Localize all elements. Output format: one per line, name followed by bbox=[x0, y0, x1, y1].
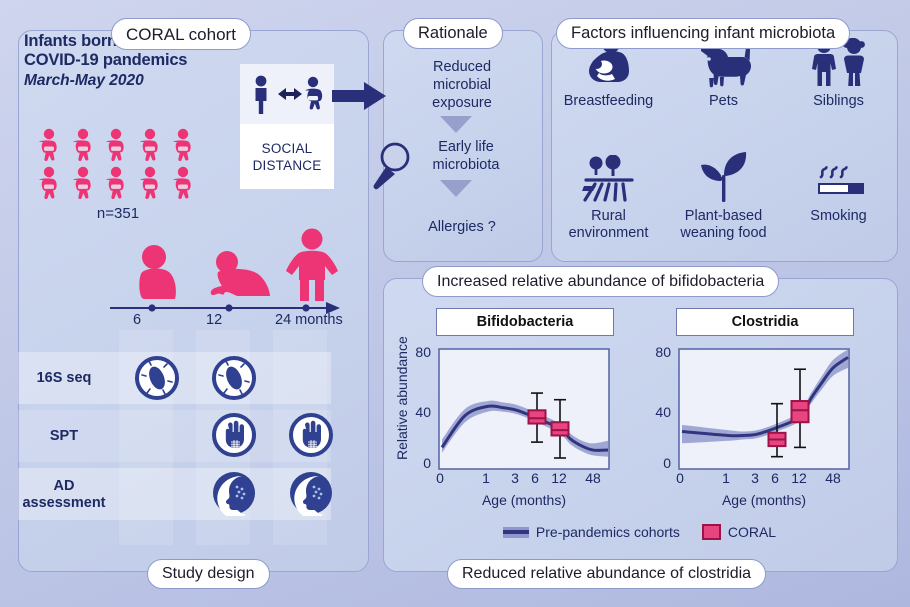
coral-cohort-title-pill: CORAL cohort bbox=[111, 18, 251, 50]
coral-heading-line2: COVID-19 pandemics bbox=[24, 51, 234, 70]
chart1-ytick-0: 0 bbox=[645, 455, 671, 471]
right-arrow-icon bbox=[332, 80, 388, 117]
factor-label: Breastfeeding bbox=[564, 93, 653, 110]
legend-item-pre-pandemics: Pre-pandemics cohorts bbox=[503, 524, 680, 540]
down-arrow-icon bbox=[440, 180, 472, 202]
charts-top-pill: Increased relative abundance of bifidoba… bbox=[422, 266, 779, 297]
chart1-xtick-1: 1 bbox=[718, 470, 734, 486]
infant-icon bbox=[68, 166, 98, 202]
factor-label: Plant-based weaning food bbox=[680, 208, 766, 242]
chart0-xtick-6: 6 bbox=[527, 470, 543, 486]
chart0-ytick-80: 80 bbox=[405, 344, 431, 360]
rationale-step-1: Reduced microbial exposure bbox=[388, 58, 536, 112]
skin-prick-test-icon bbox=[288, 412, 334, 458]
crawling-infant-icon bbox=[210, 250, 272, 302]
legend-label: Pre-pandemics cohorts bbox=[536, 524, 680, 540]
row-label-spt: SPT bbox=[16, 428, 112, 445]
chart0-ytick-0: 0 bbox=[405, 455, 431, 471]
chart1-xtick-6: 6 bbox=[767, 470, 783, 486]
infant-icon bbox=[34, 128, 64, 164]
social-distance-icon bbox=[240, 64, 334, 124]
factor-label: Siblings bbox=[813, 93, 864, 110]
sitting-infant-icon bbox=[134, 244, 180, 302]
chart1-xtick-0: 0 bbox=[672, 470, 688, 486]
infant-icon bbox=[101, 128, 131, 164]
factors-title-pill: Factors influencing infant microbiota bbox=[556, 18, 850, 49]
social-caption-line1: SOCIAL bbox=[262, 140, 313, 157]
rationale-step-3: Allergies ? bbox=[388, 218, 536, 236]
infant-icon bbox=[168, 128, 198, 164]
row-label-ad: AD assessment bbox=[16, 478, 112, 512]
factor-label: Smoking bbox=[810, 208, 866, 225]
infant-icon bbox=[168, 166, 198, 202]
chart1-xtick-48: 48 bbox=[823, 470, 843, 486]
factors-grid: Breastfeeding Pets bbox=[551, 30, 896, 260]
infant-icon bbox=[135, 166, 165, 202]
timeline-child-icons bbox=[120, 222, 345, 302]
chart0-xtick-12: 12 bbox=[549, 470, 569, 486]
chart1-xlabel: Age (months) bbox=[678, 492, 850, 508]
down-arrow-icon bbox=[440, 116, 472, 138]
chart-title-bifidobacteria: Bifidobacteria bbox=[436, 308, 614, 336]
band-line-swatch bbox=[503, 527, 529, 538]
charts-bottom-pill: Reduced relative abundance of clostridia bbox=[447, 559, 766, 589]
skin-prick-test-icon bbox=[211, 412, 257, 458]
legend-label: CORAL bbox=[728, 524, 776, 540]
factor-smoking: Smoking bbox=[781, 145, 896, 260]
box-swatch bbox=[702, 524, 721, 540]
row-label-16s: 16S seq bbox=[16, 370, 112, 387]
social-distance-card: SOCIAL DISTANCE bbox=[240, 64, 334, 189]
legend-item-coral: CORAL bbox=[702, 524, 776, 540]
factor-plant-based-weaning-food: Plant-based weaning food bbox=[666, 145, 781, 260]
chart1-ytick-40: 40 bbox=[645, 404, 671, 420]
magnifier-icon bbox=[371, 140, 411, 197]
chart0-xtick-48: 48 bbox=[583, 470, 603, 486]
farm-field-icon bbox=[582, 145, 636, 203]
bacteria-icon bbox=[211, 355, 257, 401]
infant-icon bbox=[34, 166, 64, 202]
sample-size-label: n=351 bbox=[34, 205, 202, 222]
factor-rural-environment: Rural environment bbox=[551, 145, 666, 260]
infant-count-pictogram bbox=[34, 128, 202, 202]
atopic-dermatitis-icon bbox=[288, 470, 334, 516]
chart0-xtick-3: 3 bbox=[507, 470, 523, 486]
factor-label: Pets bbox=[709, 93, 738, 110]
chart-plot-bifidobacteria bbox=[438, 348, 610, 475]
chart-plot-clostridia bbox=[678, 348, 850, 475]
social-distance-caption: SOCIAL DISTANCE bbox=[240, 124, 334, 189]
timeline-tick-24: 24 months bbox=[275, 312, 343, 328]
chart1-xtick-3: 3 bbox=[747, 470, 763, 486]
infant-icon bbox=[68, 128, 98, 164]
rationale-step-2: Early life microbiota bbox=[392, 138, 540, 174]
social-caption-line2: DISTANCE bbox=[253, 157, 322, 174]
chart-legend: Pre-pandemics cohorts CORAL bbox=[383, 524, 896, 540]
rationale-title-pill: Rationale bbox=[403, 18, 503, 49]
timeline-tick-6: 6 bbox=[133, 312, 141, 328]
infant-icon bbox=[101, 166, 131, 202]
standing-toddler-icon bbox=[286, 228, 338, 302]
factor-label: Rural environment bbox=[569, 208, 649, 242]
graphical-abstract: CORAL cohort Infants born during COVID-1… bbox=[0, 0, 910, 607]
cigarette-icon bbox=[810, 145, 868, 203]
coral-heading-line3: March-May 2020 bbox=[24, 71, 234, 90]
atopic-dermatitis-icon bbox=[211, 470, 257, 516]
chart1-xtick-12: 12 bbox=[789, 470, 809, 486]
chart0-xtick-1: 1 bbox=[478, 470, 494, 486]
study-design-pill: Study design bbox=[147, 559, 270, 589]
plant-sprout-icon bbox=[700, 145, 748, 203]
bacteria-icon bbox=[134, 355, 180, 401]
chart0-xlabel: Age (months) bbox=[438, 492, 610, 508]
infant-icon bbox=[135, 128, 165, 164]
chart-title-clostridia: Clostridia bbox=[676, 308, 854, 336]
chart0-ytick-40: 40 bbox=[405, 404, 431, 420]
chart1-ytick-80: 80 bbox=[645, 344, 671, 360]
timeline-tick-12: 12 bbox=[206, 312, 222, 328]
chart0-xtick-0: 0 bbox=[432, 470, 448, 486]
